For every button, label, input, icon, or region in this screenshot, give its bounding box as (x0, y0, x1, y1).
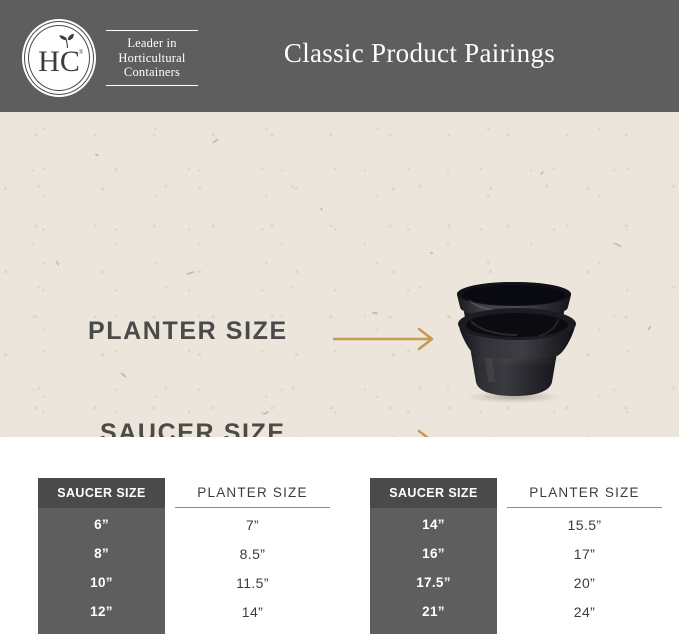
texture-speck (430, 252, 433, 255)
black-saucer-image (455, 305, 580, 367)
logo-trademark: ® (79, 50, 83, 56)
table-cell: 14” (370, 510, 497, 539)
planter-column-body: 15.5” 17” 20” 24” (507, 508, 662, 634)
saucer-column-header: SAUCER SIZE (370, 478, 497, 508)
planter-column-header: PLANTER SIZE (507, 478, 662, 508)
hero-panel: PLANTER SIZE (0, 112, 679, 437)
logo-monogram: HC (38, 47, 80, 77)
table-cell: 12” (38, 597, 165, 626)
table-cell: 8.5” (175, 539, 330, 568)
product-pairings-infographic: HC ® Leader in Horticultural Containers … (0, 0, 679, 636)
planter-column-body: 7” 8.5” 11.5” 14” (175, 508, 330, 634)
planter-column-large: PLANTER SIZE 15.5” 17” 20” 24” (507, 478, 662, 634)
planter-size-label: PLANTER SIZE (88, 317, 288, 346)
table-cell: 6” (38, 510, 165, 539)
table-cell: 20” (507, 568, 662, 597)
table-cell: 14” (175, 597, 330, 626)
table-cell: 17.5” (370, 568, 497, 597)
leaves-icon (57, 33, 79, 49)
table-cell: 8” (38, 539, 165, 568)
table-cell: 16” (370, 539, 497, 568)
arrow-right-icon-saucer (333, 428, 441, 437)
table-cell: 21” (370, 597, 497, 626)
saucer-size-label: SAUCER SIZE (100, 419, 286, 437)
size-tables: SAUCER SIZE 6” 8” 10” 12” PLANTER SIZE 7… (0, 478, 679, 636)
arrow-right-icon-planter (333, 326, 441, 352)
saucer-column-body: 14” 16” 17.5” 21” (370, 508, 497, 634)
header-bar: HC ® Leader in Horticultural Containers … (0, 0, 679, 112)
table-cell: 24” (507, 597, 662, 626)
table-cell: 17” (507, 539, 662, 568)
planter-column-header: PLANTER SIZE (175, 478, 330, 508)
saucer-column-small: SAUCER SIZE 6” 8” 10” 12” (38, 478, 165, 634)
table-cell: 10” (38, 568, 165, 597)
page-title: Classic Product Pairings (0, 38, 679, 69)
table-cell: 15.5” (507, 510, 662, 539)
table-cell: 7” (175, 510, 330, 539)
saucer-column-body: 6” 8” 10” 12” (38, 508, 165, 634)
table-cell: 11.5” (175, 568, 330, 597)
planter-column-small: PLANTER SIZE 7” 8.5” 11.5” 14” (175, 478, 330, 634)
saucer-column-header: SAUCER SIZE (38, 478, 165, 508)
saucer-column-large: SAUCER SIZE 14” 16” 17.5” 21” (370, 478, 497, 634)
